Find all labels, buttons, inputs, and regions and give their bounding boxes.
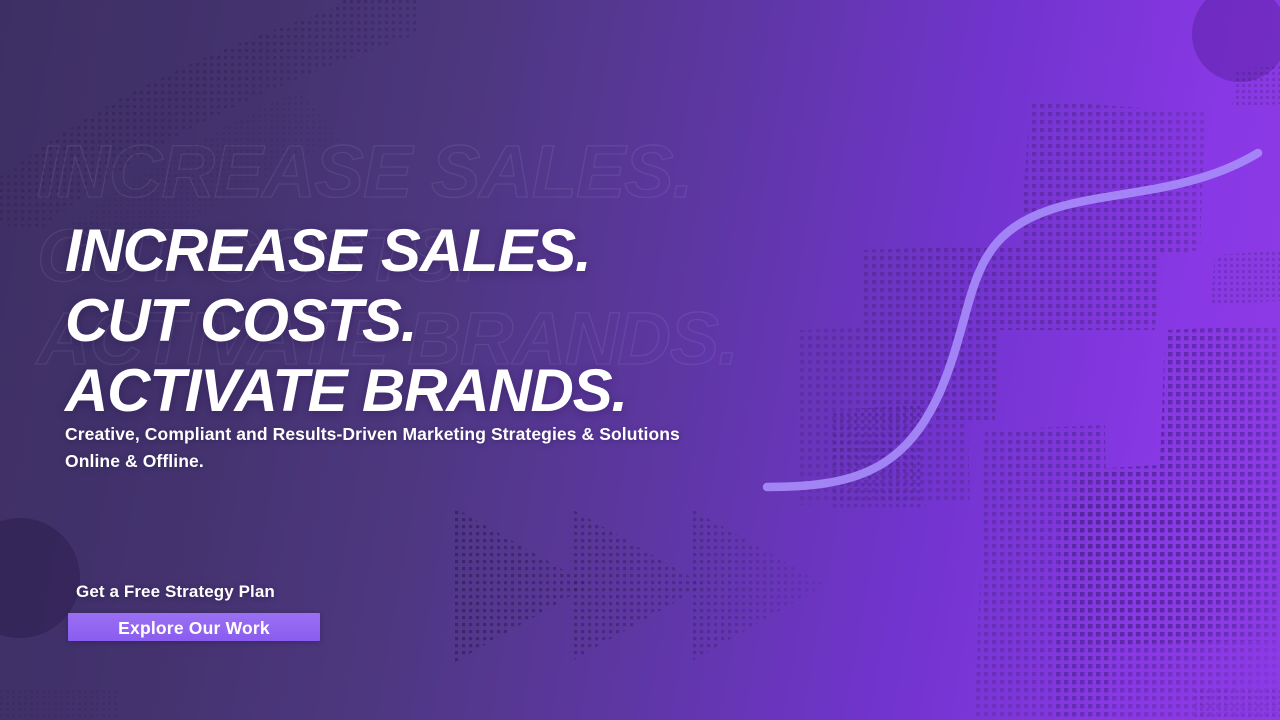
headline-line-1: INCREASE SALES. (65, 216, 865, 286)
halftone-arrow-2 (570, 508, 705, 662)
ghost-line-1: INCREASE SALES. (37, 130, 738, 214)
subheading: Creative, Compliant and Results-Driven M… (65, 421, 825, 475)
hero-banner: INCREASE SALES. CUT COSTS. ACTIVATE BRAN… (0, 0, 1280, 720)
subheading-line-1: Creative, Compliant and Results-Driven M… (65, 421, 825, 448)
halftone-arrow-1 (455, 508, 590, 662)
headline-line-3: ACTIVATE BRANDS. (65, 356, 865, 426)
free-strategy-plan-link[interactable]: Get a Free Strategy Plan (68, 582, 320, 602)
halftone-staircase-lower (975, 325, 1280, 720)
decorative-circle-top-right (1192, 0, 1280, 82)
page-title: INCREASE SALES. CUT COSTS. ACTIVATE BRAN… (65, 216, 865, 426)
headline-line-2: CUT COSTS. (65, 286, 865, 356)
cta-group: Get a Free Strategy Plan Explore Our Wor… (68, 582, 320, 641)
halftone-arrow-group (455, 508, 825, 662)
halftone-arrow-3 (690, 508, 825, 662)
explore-our-work-button[interactable]: Explore Our Work (68, 613, 320, 641)
subheading-line-2: Online & Offline. (65, 448, 825, 475)
